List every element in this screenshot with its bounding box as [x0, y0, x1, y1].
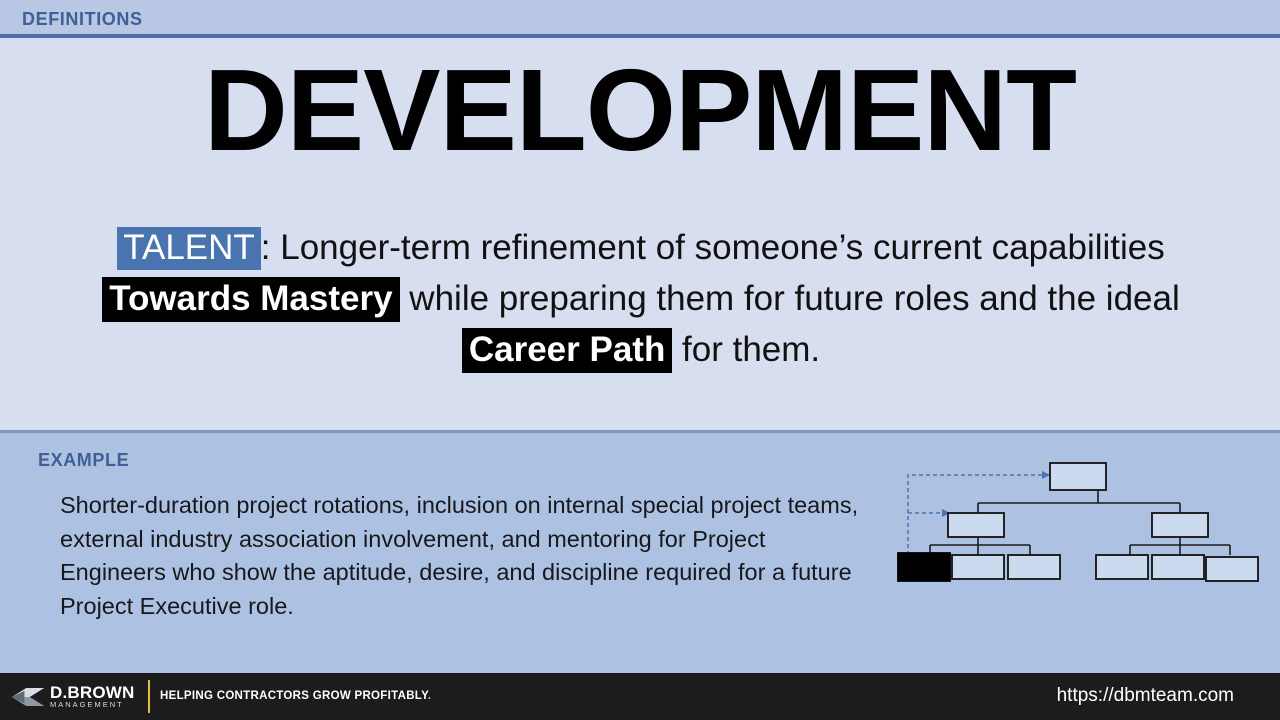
org-node-highlighted — [898, 553, 950, 581]
definition-paragraph: TALENT: Longer-term refinement of someon… — [96, 222, 1186, 375]
org-node-mid-left — [948, 513, 1004, 537]
footer-divider — [148, 680, 150, 713]
definition-colon: : — [261, 228, 271, 267]
term-badge-talent: TALENT — [117, 227, 261, 270]
footer-tagline: HELPING CONTRACTORS GROW PROFITABLY. — [160, 690, 431, 702]
org-node-leaf-5 — [1152, 555, 1204, 579]
footer-tagline-text: HELPING CONTRACTORS GROW PROFITABLY — [160, 690, 428, 702]
brand-logo: D.BROWN MANAGEMENT — [10, 676, 146, 717]
example-paragraph: Shorter-duration project rotations, incl… — [60, 489, 870, 623]
org-node-mid-right — [1152, 513, 1208, 537]
page-title: DEVELOPMENT — [0, 52, 1280, 168]
org-node-leaf-6 — [1206, 557, 1258, 581]
highlight-towards-mastery: Towards Mastery — [102, 277, 399, 322]
footer-tagline-dot: . — [428, 690, 432, 702]
section-label-definitions: DEFINITIONS — [22, 9, 143, 30]
definition-text-part-2: while preparing them for future roles an… — [400, 279, 1180, 318]
org-chart-diagram — [890, 455, 1270, 595]
footer-bar: D.BROWN MANAGEMENT HELPING CONTRACTORS G… — [0, 673, 1280, 720]
brand-subtitle: MANAGEMENT — [50, 701, 135, 709]
section-label-example: EXAMPLE — [38, 450, 129, 471]
brand-name: D.BROWN — [50, 684, 135, 702]
arrowhead-top — [1042, 471, 1050, 479]
org-node-leaf-4 — [1096, 555, 1148, 579]
definitions-header-band: DEFINITIONS — [0, 0, 1280, 38]
footer-website[interactable]: https://dbmteam.com — [1057, 685, 1234, 707]
definition-text-part-1: Longer-term refinement of someone’s curr… — [271, 228, 1165, 267]
logo-mark-icon — [10, 682, 46, 712]
org-node-top — [1050, 463, 1106, 490]
org-node-leaf-2 — [952, 555, 1004, 579]
example-band: EXAMPLE Shorter-duration project rotatio… — [0, 430, 1280, 678]
brand-text: D.BROWN MANAGEMENT — [50, 684, 135, 710]
org-node-leaf-3 — [1008, 555, 1060, 579]
highlight-career-path: Career Path — [462, 328, 672, 373]
definition-text-part-3: for them. — [672, 330, 820, 369]
slide: DEFINITIONS DEVELOPMENT TALENT: Longer-t… — [0, 0, 1280, 720]
